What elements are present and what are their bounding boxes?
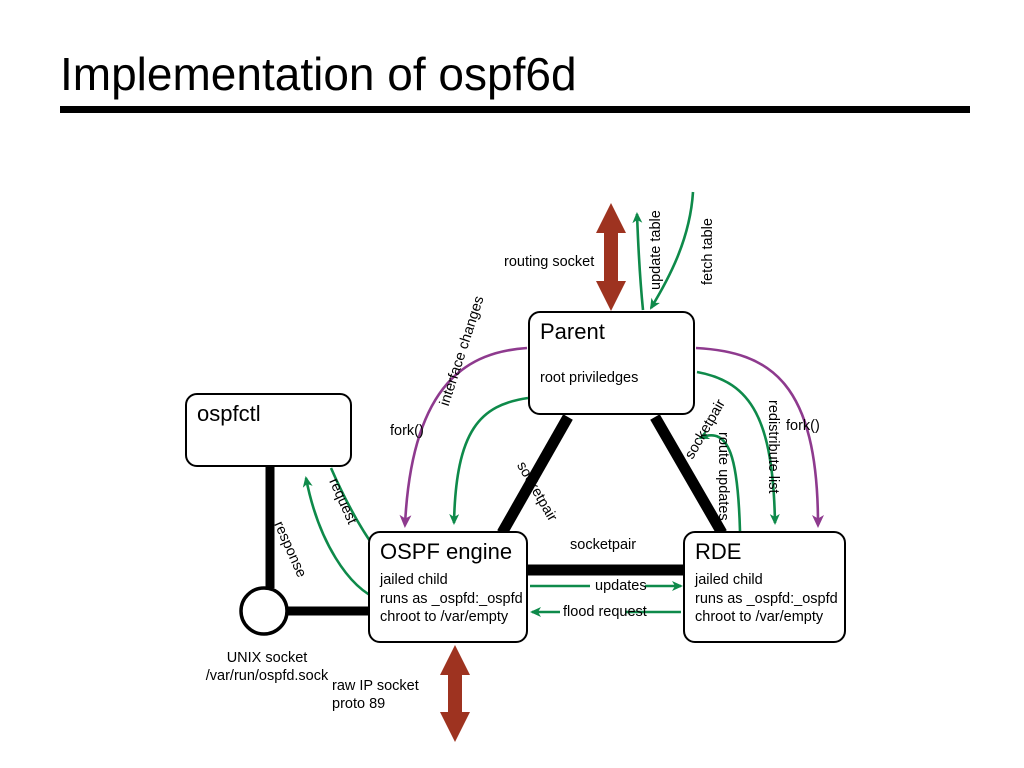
node-ospf-engine-details: jailed child runs as _ospfd:_ospfd chroo… [380, 571, 516, 627]
node-rde-details: jailed child runs as _ospfd:_ospfd chroo… [695, 571, 834, 627]
node-ospf-engine-title: OSPF engine [380, 539, 516, 565]
label-fork-right: fork() [786, 418, 820, 435]
node-ospfctl[interactable]: ospfctl [185, 393, 352, 467]
slide-canvas: Implementation of ospf6d [0, 0, 1024, 768]
raw-ip-socket-arrow [440, 645, 470, 742]
node-parent-details: root priviledges [540, 369, 683, 388]
update-table-edge [637, 214, 643, 310]
label-updates: updates [595, 578, 647, 595]
node-parent-line-0: root priviledges [540, 369, 683, 388]
label-unix-socket-line1: UNIX socket [187, 650, 347, 667]
node-rde-line-0: jailed child [695, 571, 834, 590]
node-rde-line-1: runs as _ospfd:_ospfd [695, 590, 834, 609]
unix-socket-node [241, 588, 287, 634]
node-ospfctl-title: ospfctl [197, 401, 340, 427]
node-rde-title: RDE [695, 539, 834, 565]
node-ospf-engine-line-2: chroot to /var/empty [380, 608, 516, 627]
routing-socket-arrow [596, 203, 626, 311]
label-update-table: update table [648, 210, 665, 290]
label-raw-ip-line1: raw IP socket [332, 678, 419, 695]
node-ospf-engine[interactable]: OSPF engine jailed child runs as _ospfd:… [368, 531, 528, 643]
label-socketpair-bottom: socketpair [570, 537, 636, 554]
label-unix-socket-line2: /var/run/ospfd.sock [187, 668, 347, 685]
diagram-edges [0, 0, 1024, 768]
node-ospf-engine-line-0: jailed child [380, 571, 516, 590]
node-parent[interactable]: Parent root priviledges [528, 311, 695, 415]
node-parent-title: Parent [540, 319, 683, 345]
label-fork-left: fork() [390, 423, 424, 440]
node-ospf-engine-line-1: runs as _ospfd:_ospfd [380, 590, 516, 609]
label-fetch-table: fetch table [700, 218, 717, 285]
label-raw-ip-line2: proto 89 [332, 696, 385, 713]
node-rde-line-2: chroot to /var/empty [695, 608, 834, 627]
label-redistribute-list: redistribute list [764, 400, 781, 493]
label-routing-socket: routing socket [504, 254, 594, 271]
label-route-updates: route updates [714, 432, 731, 521]
node-rde[interactable]: RDE jailed child runs as _ospfd:_ospfd c… [683, 531, 846, 643]
label-flood-request: flood request [563, 604, 647, 621]
